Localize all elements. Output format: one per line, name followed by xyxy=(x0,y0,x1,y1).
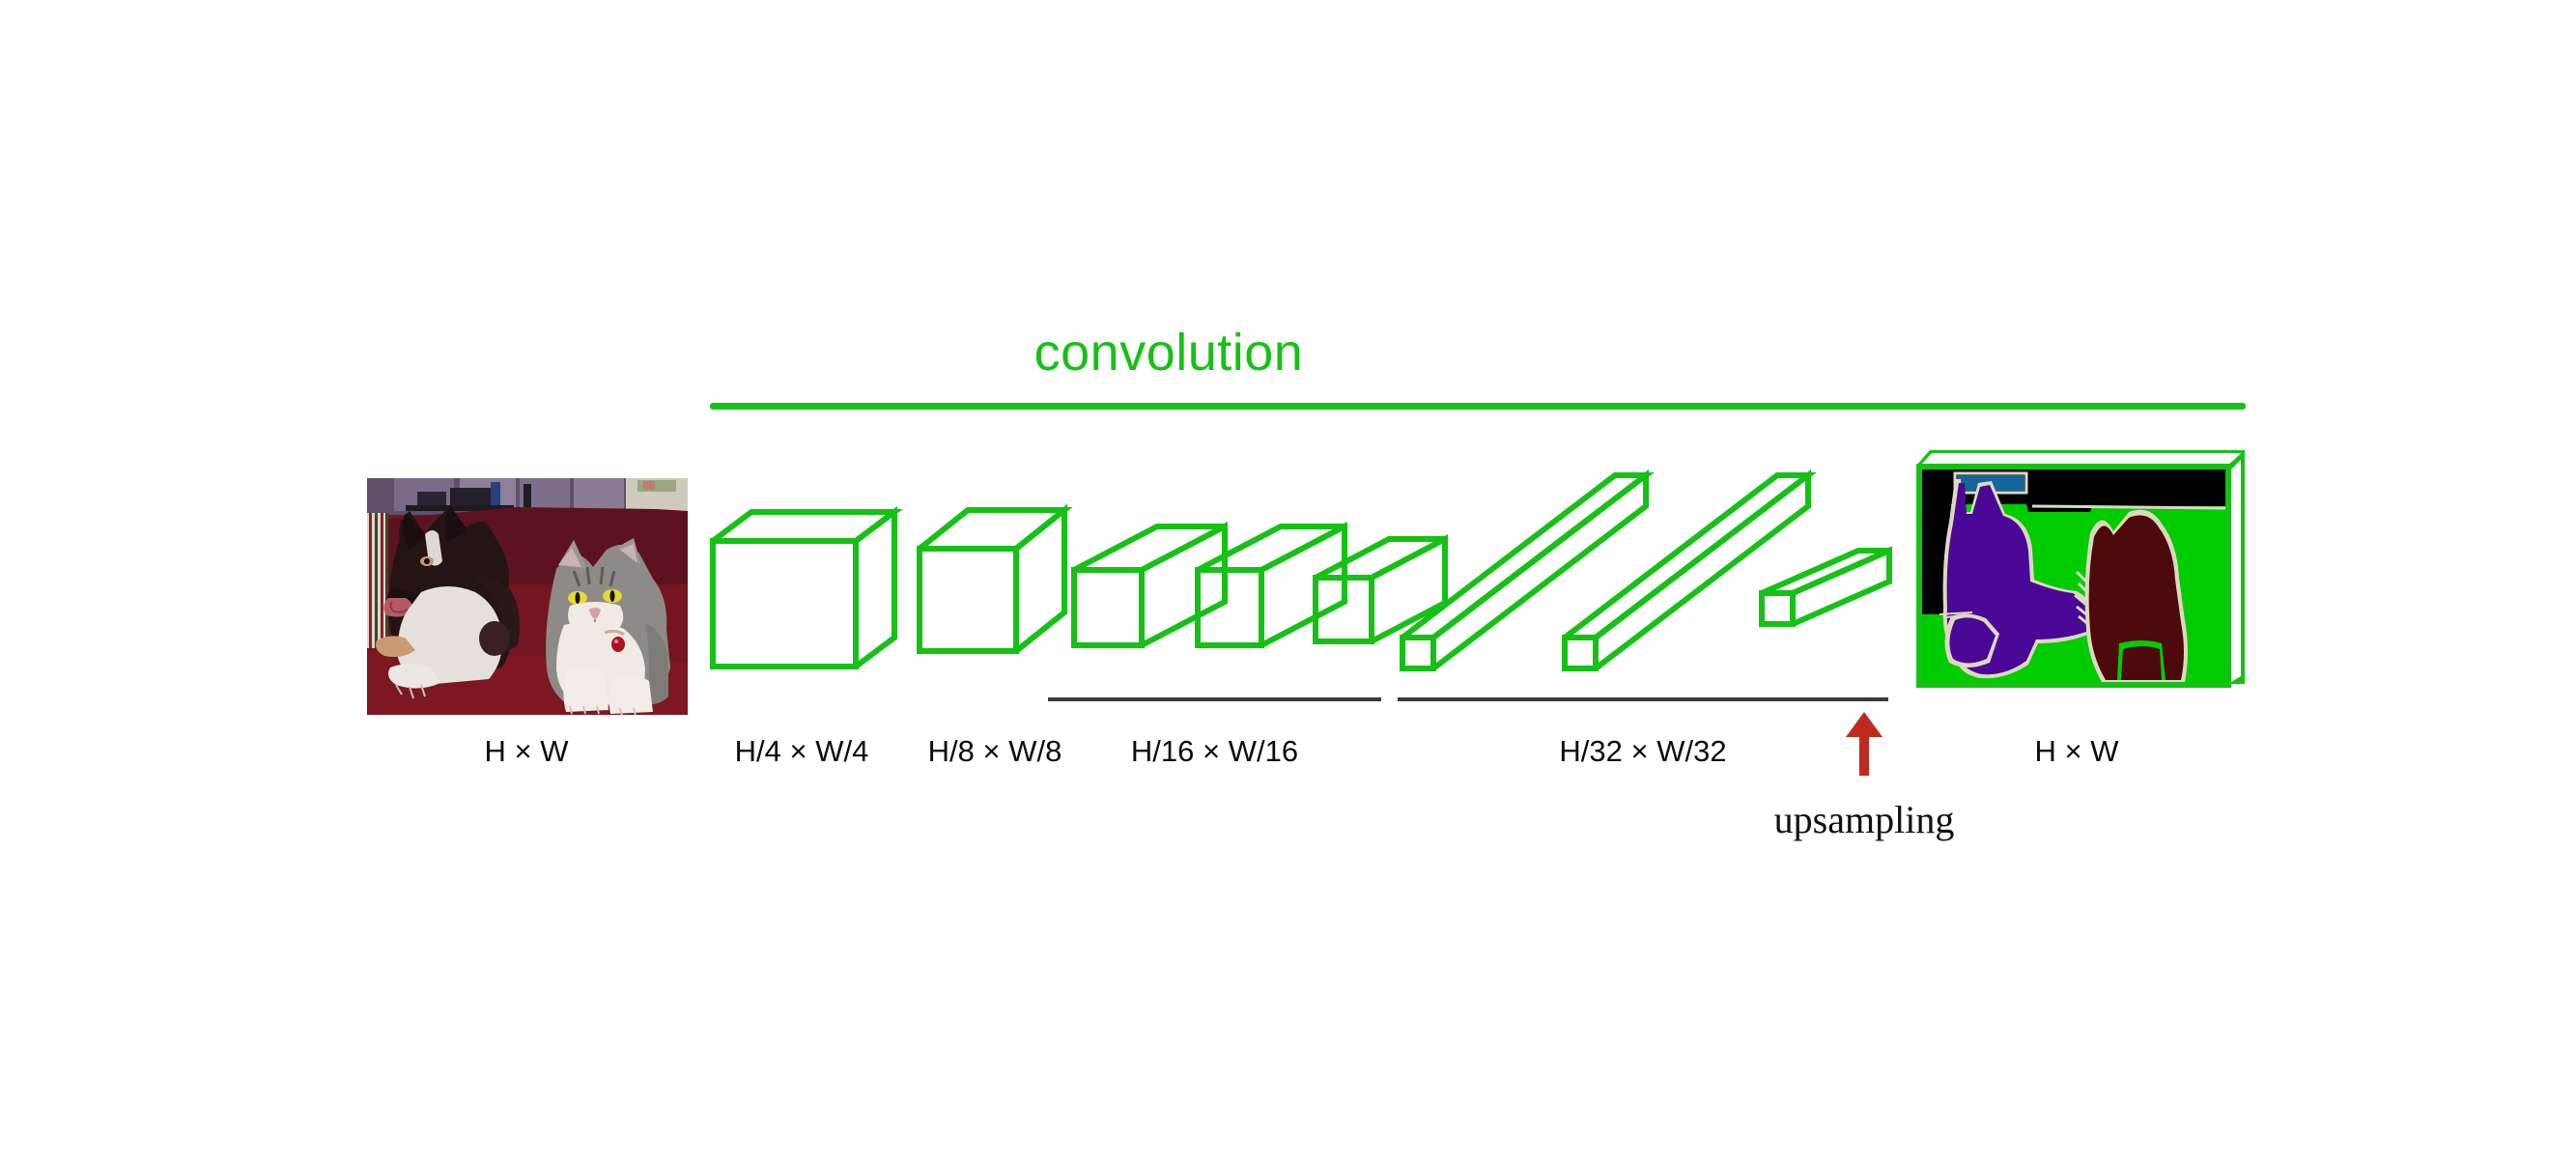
upsampling-arrow-shaft-icon xyxy=(1859,729,1869,776)
feature-block-h16-b xyxy=(1198,526,1345,645)
caption-h16-dimensions: H/16 × W/16 xyxy=(1048,734,1381,769)
caption-input-dimensions: H × W xyxy=(372,734,681,769)
feature-block-h16-a xyxy=(1074,526,1225,645)
caption-output-dimensions: H × W xyxy=(1922,734,2231,769)
feature-block-h4 xyxy=(713,512,894,667)
feature-block-h32-c xyxy=(1762,551,1889,624)
input-image xyxy=(367,478,688,715)
convolution-span-rule xyxy=(710,403,2246,410)
output-segmentation-image xyxy=(1912,444,2247,691)
caption-h32-dimensions: H/32 × W/32 xyxy=(1398,734,1888,769)
scale-rule-h32 xyxy=(1398,697,1888,701)
feature-block-h8 xyxy=(920,510,1064,651)
upsampling-label: upsampling xyxy=(1700,797,2028,843)
feature-block-h16-c xyxy=(1316,539,1445,641)
convolution-label: convolution xyxy=(947,324,1391,382)
feature-block-h32-b xyxy=(1565,475,1808,668)
feature-block-h32-a xyxy=(1402,475,1646,668)
figure-canvas: convolution xyxy=(0,0,2576,1164)
scale-rule-h16 xyxy=(1048,697,1381,701)
